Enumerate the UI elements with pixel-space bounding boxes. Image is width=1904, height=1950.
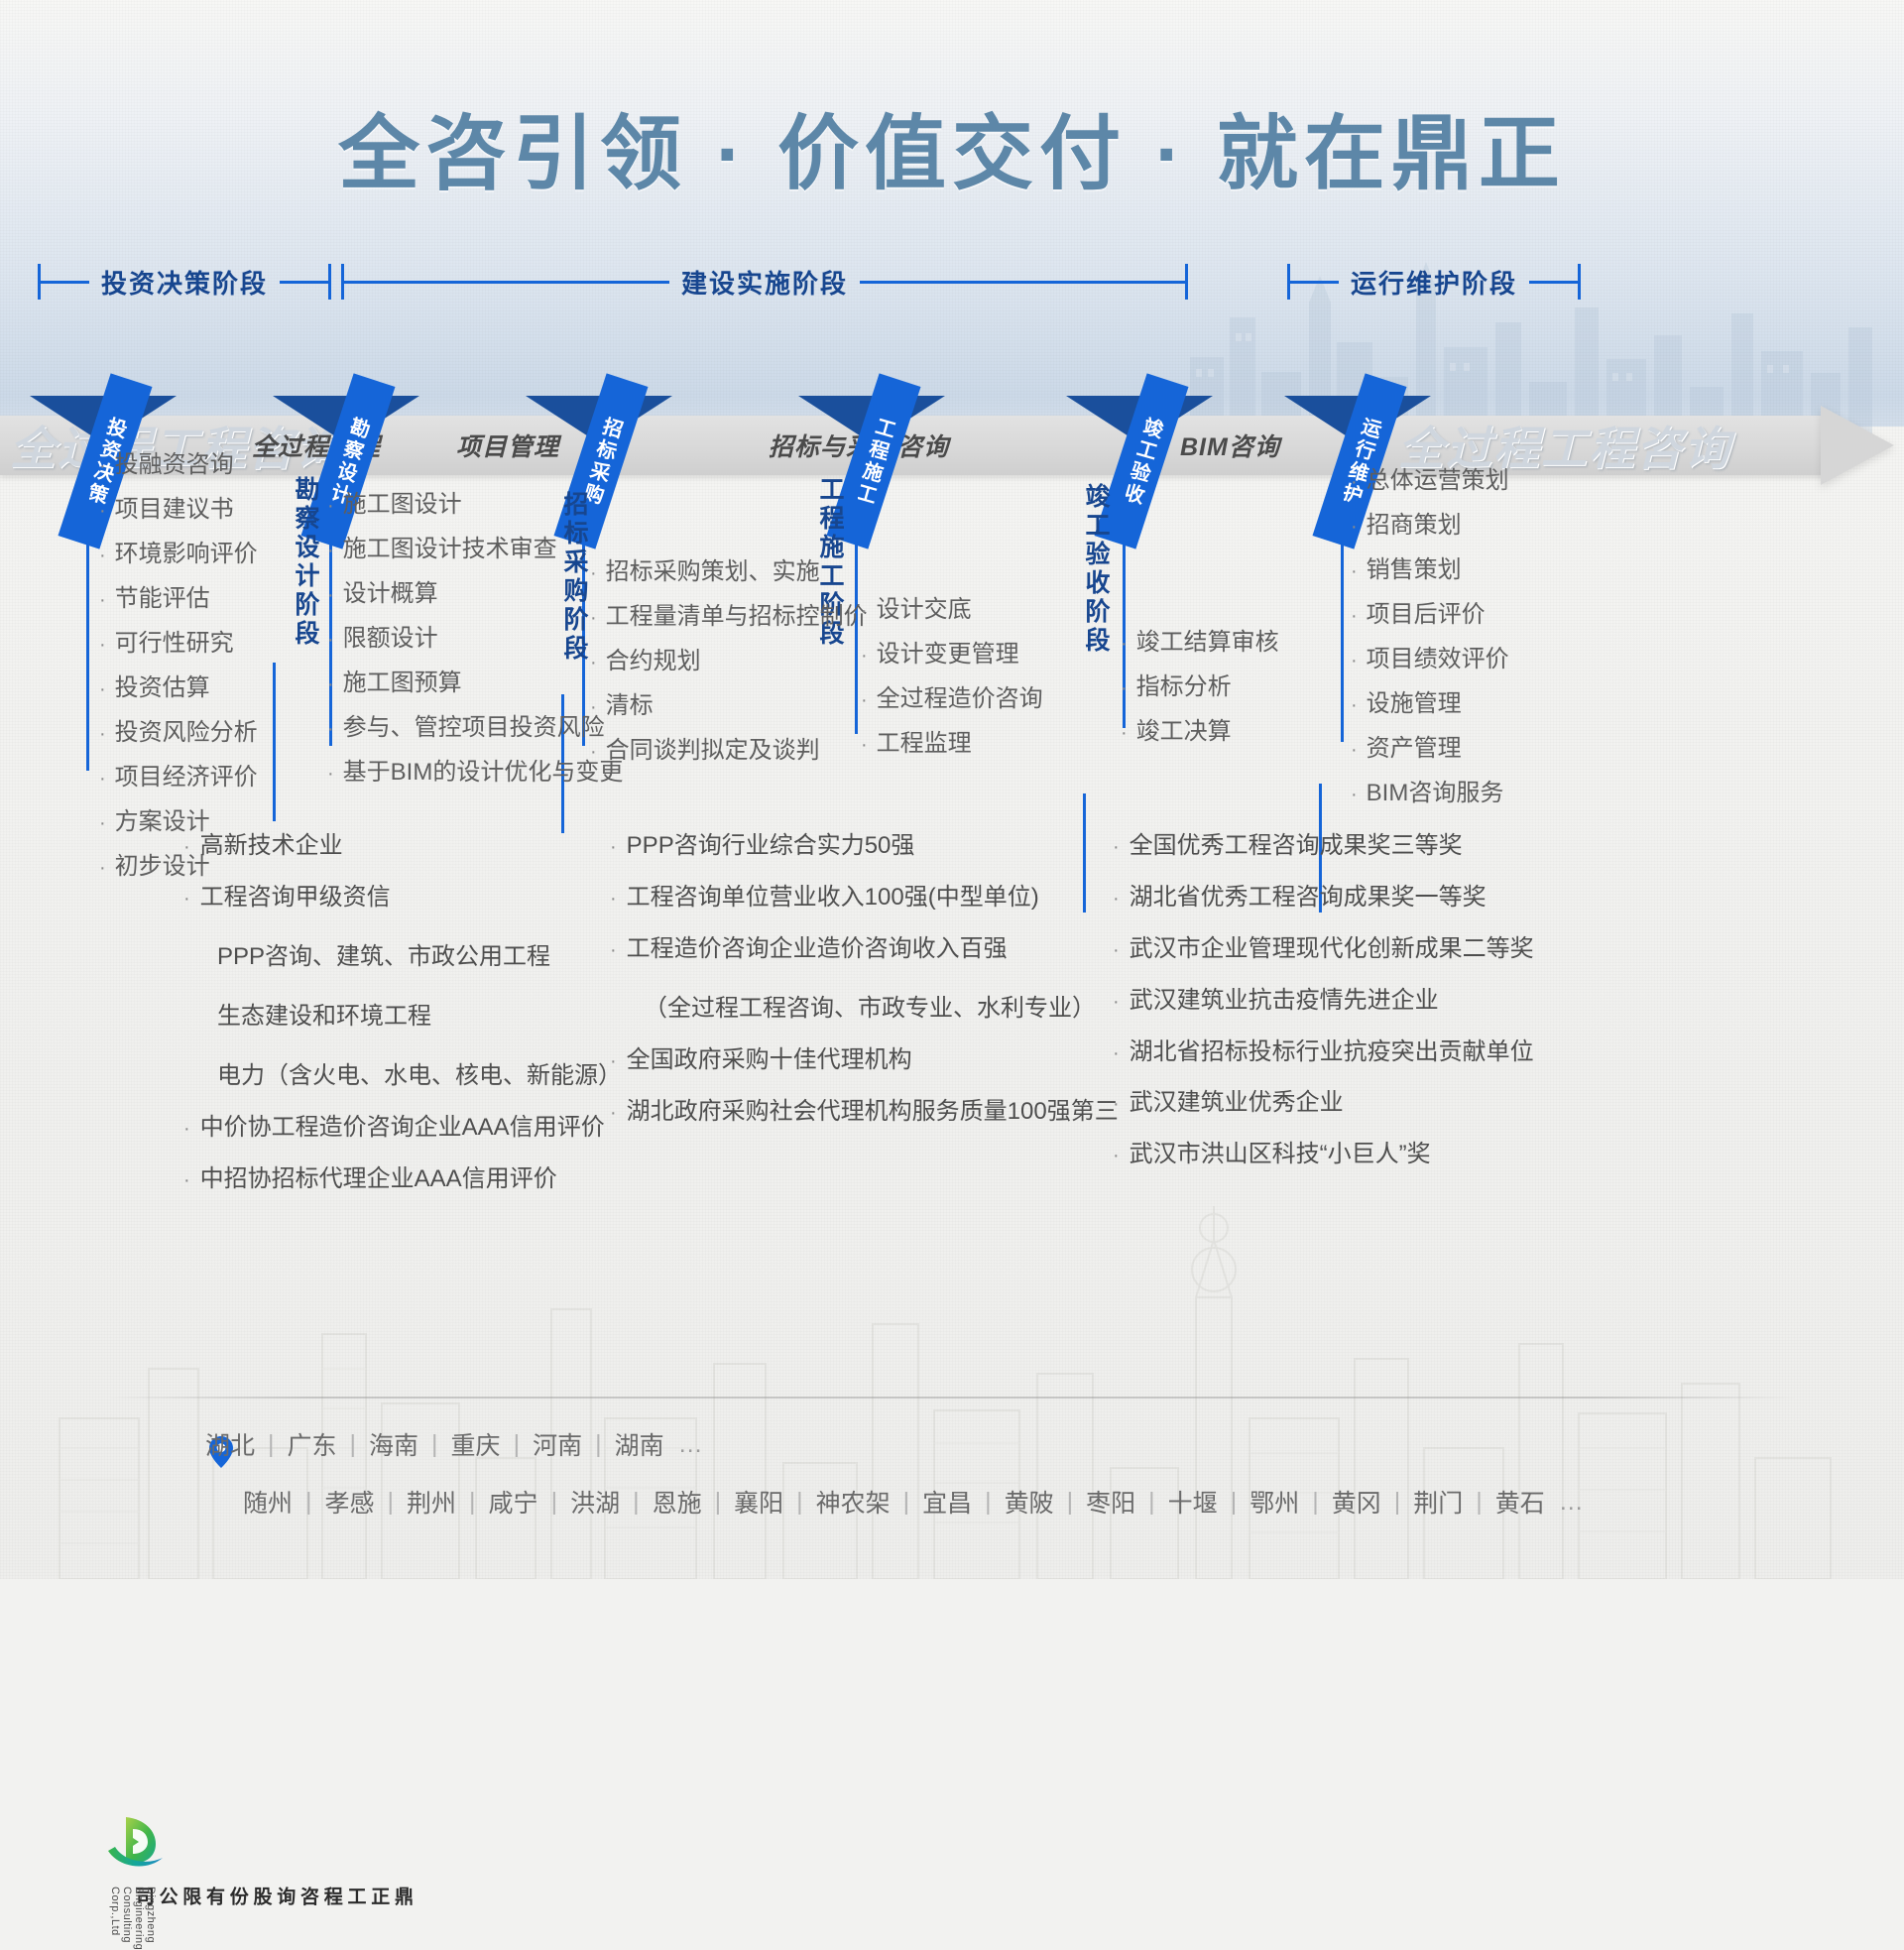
list-item-label: 项目经济评价 [115,766,258,790]
bullet-dot: · [327,674,334,694]
footer-location[interactable]: 河南 [533,1426,582,1462]
bullet-dot: · [1113,991,1120,1013]
list-item-label: 施工图设计技术审查 [343,538,557,561]
list-item: ·施工图预算 [327,671,623,695]
bullet-dot: · [590,742,597,762]
footer-separator: | [1463,1488,1495,1517]
list-item: ·节能评估 [99,587,258,611]
list-item: ·指标分析 [1121,675,1279,699]
bullet-dot: · [590,697,597,717]
footer-location[interactable]: 枣阳 [1086,1484,1135,1520]
band-arrow-tip [1821,406,1894,485]
connector-line-investment [86,448,89,771]
footer-location[interactable]: 黄陂 [1005,1484,1054,1520]
stage-vlabel-survey-design: 勘察设计阶段 [293,476,317,649]
bullet-dot: · [1351,785,1358,804]
certification-item: ·PPP咨询行业综合实力50强 [610,833,1119,860]
list-item-label: 基于BIM的设计优化与变更 [343,761,624,785]
footer-separator: | [1054,1488,1087,1517]
footer-location[interactable]: 黄石 [1495,1484,1545,1520]
bullet-dot: · [590,653,597,672]
list-item: ·投融资咨询 [99,453,258,477]
certification-label: 工程咨询单位营业收入100强(中型单位) [627,885,1039,912]
list-item: ·限额设计 [327,627,623,651]
list-item-label: 施工图预算 [343,671,462,695]
footer-location[interactable]: 襄阳 [734,1484,783,1520]
bullet-dot: · [610,836,617,858]
stage-list-survey-design: ·施工图设计·施工图设计技术审查·设计概算·限额设计·施工图预算·参与、管控项目… [327,493,623,805]
bracket-rule-right [280,281,328,284]
footer-location[interactable]: 孝感 [325,1484,375,1520]
bullet-dot: · [99,724,106,744]
certification-subitem: （全过程工程咨询、市政专业、水利专业） [644,988,1119,1023]
footer-location[interactable]: 十堰 [1168,1484,1218,1520]
certification-subitem: PPP咨询、建筑、市政公用工程 [217,936,622,971]
list-item: ·设施管理 [1351,692,1509,716]
certification-label: 湖北政府采购社会代理机构服务质量100强第三 [627,1099,1119,1126]
bullet-dot: · [1121,678,1128,698]
certification-label: PPP咨询行业综合实力50强 [627,833,915,860]
bullet-dot: · [610,888,617,910]
list-item: ·项目后评价 [1351,603,1509,627]
list-item-label: 竣工决算 [1136,720,1232,744]
certification-label: 湖北省招标投标行业抗疫突出贡献单位 [1130,1039,1534,1066]
certification-label: 武汉建筑业抗击疫情先进企业 [1130,988,1439,1015]
list-item-label: BIM咨询服务 [1367,782,1504,805]
bullet-dot: · [327,764,334,784]
footer-location[interactable]: 湖北 [205,1426,255,1462]
company-logo [103,1813,169,1884]
footer-location[interactable]: 鄂州 [1249,1484,1299,1520]
list-item-label: 全过程造价咨询 [877,687,1043,711]
certification-item: ·湖北政府采购社会代理机构服务质量100强第三 [610,1099,1119,1126]
company-name-en: Dingzheng Engineering Consulting Corp.,L… [109,1887,157,1950]
list-item-label: 设计概算 [343,582,438,606]
list-item-label: 总体运营策划 [1367,469,1509,493]
certification-label: 工程造价咨询企业造价咨询收入百强 [627,936,1008,963]
bullet-dot: · [99,679,106,699]
bullet-dot: · [861,601,868,621]
certification-label: 中招协招标代理企业AAA信用评价 [200,1166,557,1193]
certification-section: 鼎正工程咨询股份有限公司 Dingzheng Engineering Consu… [0,813,1904,1141]
footer-separator: | [293,1488,325,1517]
phase-label-construction: 建设实施阶段 [669,264,860,301]
bullet-dot: · [861,690,868,710]
bullet-dot: · [1121,634,1128,654]
footer-separator: | [501,1430,534,1459]
footer-location[interactable]: 恩施 [653,1484,702,1520]
list-item-label: 限额设计 [343,627,438,651]
list-item: ·竣工决算 [1121,720,1279,744]
bullet-dot: · [861,735,868,755]
bullet-dot: · [1351,651,1358,670]
footer-divider [109,1397,1795,1399]
bullet-dot: · [99,769,106,789]
cert-column-3: ·全国优秀工程咨询成果奖三等奖·湖北省优秀工程咨询成果奖一等奖·武汉市企业管理现… [1113,833,1534,1193]
list-item: ·投资风险分析 [99,721,258,745]
bracket-rule-right [860,281,1185,284]
list-item-label: 工程监理 [877,732,972,756]
bullet-dot: · [1351,561,1358,581]
certification-label: 全国政府采购十佳代理机构 [627,1047,912,1074]
bullet-dot: · [99,590,106,610]
certification-label: 工程咨询甲级资信 [200,885,391,912]
footer-separator: | [456,1488,489,1517]
certification-label: 湖北省优秀工程咨询成果奖一等奖 [1130,885,1487,912]
bullet-dot: · [183,888,190,910]
footer-location[interactable]: 荆州 [407,1484,456,1520]
bullet-dot: · [1113,836,1120,858]
list-item: ·设计交底 [861,598,1043,622]
stage-list-construction: ·设计交底·设计变更管理·全过程造价咨询·工程监理 [861,598,1043,777]
list-item-label: 环境影响评价 [115,543,258,566]
list-item: ·合同谈判拟定及谈判 [590,739,868,763]
footer-separator: | [418,1430,451,1459]
bullet-dot: · [1351,606,1358,626]
footer-separator: | [620,1488,653,1517]
footer-location[interactable]: 咸宁 [489,1484,538,1520]
bullet-dot: · [1113,939,1120,961]
certification-label: 武汉市洪山区科技“小巨人”奖 [1130,1142,1431,1168]
list-item: ·施工图设计 [327,493,623,517]
list-item-label: 资产管理 [1367,737,1462,761]
bracket-cap-right [328,264,331,300]
footer-location[interactable]: 广东 [288,1426,337,1462]
list-item: ·环境影响评价 [99,543,258,566]
bracket-rule-left [41,281,89,284]
certification-subitem: 生态建设和环境工程 [217,996,622,1031]
list-item: ·项目绩效评价 [1351,648,1509,671]
certification-item: ·湖北省招标投标行业抗疫突出贡献单位 [1113,1039,1534,1066]
list-item: ·清标 [590,694,868,718]
connector-line-operation [1341,448,1344,742]
bullet-dot: · [1121,723,1128,743]
certification-label: 武汉市企业管理现代化创新成果二等奖 [1130,936,1534,963]
phase-bracket-investment: 投资决策阶段 [38,260,331,304]
list-item: ·销售策划 [1351,558,1509,582]
footer-separator: | [375,1488,408,1517]
phase-label-operation: 运行维护阶段 [1339,264,1529,301]
certification-item: ·武汉市洪山区科技“小巨人”奖 [1113,1142,1534,1168]
list-item: ·设计概算 [327,582,623,606]
certification-item: ·高新技术企业 [183,833,622,860]
list-item: ·招商策划 [1351,514,1509,538]
footer-separator: | [972,1488,1005,1517]
bullet-dot: · [1351,517,1358,537]
list-item-label: 销售策划 [1367,558,1462,582]
footer-location[interactable]: 洪湖 [570,1484,620,1520]
bullet-dot: · [1351,695,1358,715]
certification-subitem: 电力（含火电、水电、核电、新能源） [217,1055,622,1090]
footer-location[interactable]: 宜昌 [922,1484,972,1520]
list-item: ·招标采购策划、实施 [590,560,868,584]
bullet-dot: · [183,1169,190,1191]
bullet-dot: · [327,541,334,560]
bullet-dot: · [327,585,334,605]
footer-location[interactable]: 荆门 [1413,1484,1463,1520]
bullet-dot: · [1351,740,1358,760]
list-item-label: 招商策划 [1367,514,1462,538]
list-item: ·BIM咨询服务 [1351,782,1509,805]
certification-item: ·中价协工程造价咨询企业AAA信用评价 [183,1115,622,1142]
bullet-dot: · [610,1050,617,1072]
stage-list-operation: ·总体运营策划·招商策划·销售策划·项目后评价·项目绩效评价·设施管理·资产管理… [1351,469,1509,826]
certification-item: ·湖北省优秀工程咨询成果奖一等奖 [1113,885,1534,912]
footer-more-ellipsis: … [1545,1488,1586,1517]
phase-bracket-construction: 建设实施阶段 [341,260,1188,304]
certification-label: 武汉建筑业优秀企业 [1130,1090,1344,1117]
list-item-label: 参与、管控项目投资风险 [343,716,605,740]
footer-separator: | [255,1430,288,1459]
bullet-dot: · [327,630,334,650]
bullet-dot: · [1351,472,1358,492]
bullet-dot: · [861,646,868,666]
bullet-dot: · [183,1118,190,1140]
list-item-label: 投资估算 [115,676,210,700]
bullet-dot: · [99,546,106,565]
bullet-dot: · [1113,888,1120,910]
list-item-label: 竣工结算审核 [1136,631,1279,655]
bullet-dot: · [327,496,334,516]
footer-separator: | [1381,1488,1414,1517]
list-item: ·参与、管控项目投资风险 [327,716,623,740]
column-divider-1 [273,663,276,821]
list-item: ·合约规划 [590,650,868,673]
footer-city-row: 随州|孝感|荆州|咸宁|洪湖|恩施|襄阳|神农架|宜昌|黄陂|枣阳|十堰|鄂州|… [243,1484,1586,1520]
bullet-dot: · [99,456,106,476]
footer-separator: | [337,1430,370,1459]
bullet-dot: · [99,635,106,655]
certification-item: ·中招协招标代理企业AAA信用评价 [183,1166,622,1193]
footer-separator: | [538,1488,571,1517]
certification-item: ·工程咨询单位营业收入100强(中型单位) [610,885,1119,912]
list-item: ·项目建议书 [99,498,258,522]
bullet-dot: · [610,1102,617,1124]
bullet-dot: · [590,563,597,583]
certification-item: ·武汉市企业管理现代化创新成果二等奖 [1113,936,1534,963]
company-name-cn: 鼎正工程咨询股份有限公司 [131,1887,414,1907]
page-title: 全咨引领 · 价值交付 · 就在鼎正 [0,87,1904,205]
list-item-label: 施工图设计 [343,493,462,517]
certification-item: ·武汉建筑业抗击疫情先进企业 [1113,988,1534,1015]
stage-list-completion: ·竣工结算审核·指标分析·竣工决算 [1121,631,1279,765]
certification-item: ·全国政府采购十佳代理机构 [610,1047,1119,1074]
footer-location[interactable]: 重庆 [451,1426,501,1462]
list-item: ·设计变更管理 [861,643,1043,667]
footer-more-ellipsis: … [664,1430,705,1459]
certification-item: ·武汉建筑业优秀企业 [1113,1090,1534,1117]
certification-item: ·工程咨询甲级资信 [183,885,622,912]
list-item-label: 项目后评价 [1367,603,1486,627]
list-item: ·基于BIM的设计优化与变更 [327,761,623,785]
footer-separator: | [702,1488,735,1517]
list-item: ·施工图设计技术审查 [327,538,623,561]
list-item-label: 节能评估 [115,587,210,611]
footer-location[interactable]: 海南 [369,1426,418,1462]
cert-column-1: ·高新技术企业·工程咨询甲级资信PPP咨询、建筑、市政公用工程生态建设和环境工程… [183,833,622,1218]
list-item: ·可行性研究 [99,632,258,656]
certification-item: ·工程造价咨询企业造价咨询收入百强 [610,936,1119,963]
footer-separator: | [783,1488,816,1517]
bullet-dot: · [1113,1145,1120,1166]
list-item: ·资产管理 [1351,737,1509,761]
phase-label-investment: 投资决策阶段 [89,264,280,301]
bullet-dot: · [327,719,334,739]
stage-list-bidding: ·招标采购策划、实施·工程量清单与招标控制价·合约规划·清标·合同谈判拟定及谈判 [590,560,868,784]
list-item-label: 合约规划 [606,650,701,673]
list-item-label: 投融资咨询 [115,453,234,477]
bracket-rule-left [344,281,669,284]
footer-location[interactable]: 湖南 [615,1426,664,1462]
bullet-dot: · [590,608,597,628]
list-item-label: 合同谈判拟定及谈判 [606,739,820,763]
certification-label: 全国优秀工程咨询成果奖三等奖 [1130,833,1463,860]
bracket-cap-right [1185,264,1188,300]
stage-vlabel-completion: 竣工验收阶段 [1083,483,1108,656]
bullet-dot: · [1113,1093,1120,1115]
list-item-label: 指标分析 [1136,675,1232,699]
list-item-label: 招标采购策划、实施 [606,560,820,584]
footer-location[interactable]: 随州 [243,1484,293,1520]
footer-separator: | [1299,1488,1332,1517]
list-item: ·投资估算 [99,676,258,700]
bullet-dot: · [183,836,190,858]
footer-separator: | [1135,1488,1168,1517]
list-item: ·工程监理 [861,732,1043,756]
cert-column-2: ·PPP咨询行业综合实力50强·工程咨询单位营业收入100强(中型单位)·工程造… [610,833,1119,1150]
list-item-label: 设施管理 [1367,692,1462,716]
bullet-dot: · [1113,1042,1120,1064]
list-item: ·全过程造价咨询 [861,687,1043,711]
band-watermark-right: 全过程工程咨询 [1398,416,1731,475]
bracket-rule-left [1290,281,1339,284]
footer-separator: | [891,1488,923,1517]
bullet-dot: · [99,501,106,521]
footer-location[interactable]: 黄冈 [1332,1484,1381,1520]
list-item: ·竣工结算审核 [1121,631,1279,655]
bracket-cap-right [1578,264,1581,300]
footer-province-row: 湖北|广东|海南|重庆|河南|湖南… [205,1426,705,1462]
list-item-label: 清标 [606,694,654,718]
list-item-label: 工程量清单与招标控制价 [606,605,868,629]
list-item: ·总体运营策划 [1351,469,1509,493]
bracket-rule-right [1529,281,1578,284]
dingzheng-leaf-logo-icon [103,1813,169,1879]
footer-separator: | [1218,1488,1250,1517]
list-item-label: 项目建议书 [115,498,234,522]
list-item-label: 可行性研究 [115,632,234,656]
certification-label: 高新技术企业 [200,833,343,860]
footer-separator: | [582,1430,615,1459]
list-item: ·工程量清单与招标控制价 [590,605,868,629]
list-item-label: 项目绩效评价 [1367,648,1509,671]
footer-location[interactable]: 神农架 [816,1484,891,1520]
list-item-label: 设计变更管理 [877,643,1019,667]
certification-item: ·全国优秀工程咨询成果奖三等奖 [1113,833,1534,860]
phase-bracket-operation: 运行维护阶段 [1287,260,1581,304]
list-item-label: 设计交底 [877,598,972,622]
list-item: ·项目经济评价 [99,766,258,790]
list-item-label: 投资风险分析 [115,721,258,745]
certification-label: 中价协工程造价咨询企业AAA信用评价 [200,1115,605,1142]
bullet-dot: · [610,939,617,961]
